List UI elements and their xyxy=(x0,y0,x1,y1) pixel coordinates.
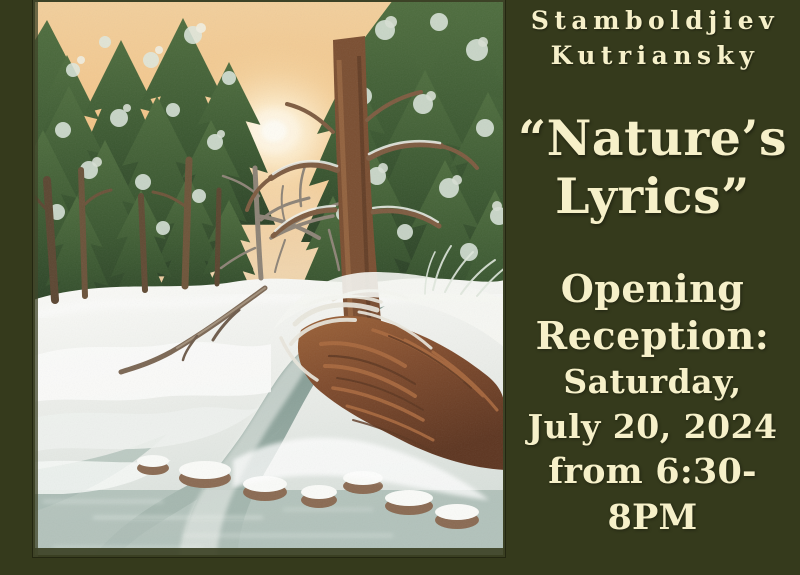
exhibition-title: “Nature’s Lyrics” xyxy=(511,109,794,225)
event-line-reception: Reception: xyxy=(511,312,794,359)
artwork-image xyxy=(33,0,505,557)
event-line-opening: Opening xyxy=(511,265,794,312)
canvas-texture xyxy=(33,0,505,557)
exhibition-title-line-2: Lyrics” xyxy=(511,167,794,225)
event-line-date: July 20, 2024 xyxy=(511,404,794,449)
poster-text-column: Stamboldjiev Kutriansky “Nature’s Lyrics… xyxy=(505,0,800,575)
artist-name-line-2: Kutriansky xyxy=(511,38,794,73)
artist-name: Stamboldjiev Kutriansky xyxy=(511,3,794,73)
event-line-time: from 6:30-8PM xyxy=(511,449,794,541)
exhibition-title-line-1: “Nature’s xyxy=(511,109,794,167)
painting-canvas xyxy=(33,0,505,557)
artist-name-line-1: Stamboldjiev xyxy=(511,3,794,38)
event-details: Opening Reception: Saturday, July 20, 20… xyxy=(511,265,794,541)
event-line-day: Saturday, xyxy=(511,359,794,404)
exhibition-poster: Stamboldjiev Kutriansky “Nature’s Lyrics… xyxy=(0,0,800,575)
